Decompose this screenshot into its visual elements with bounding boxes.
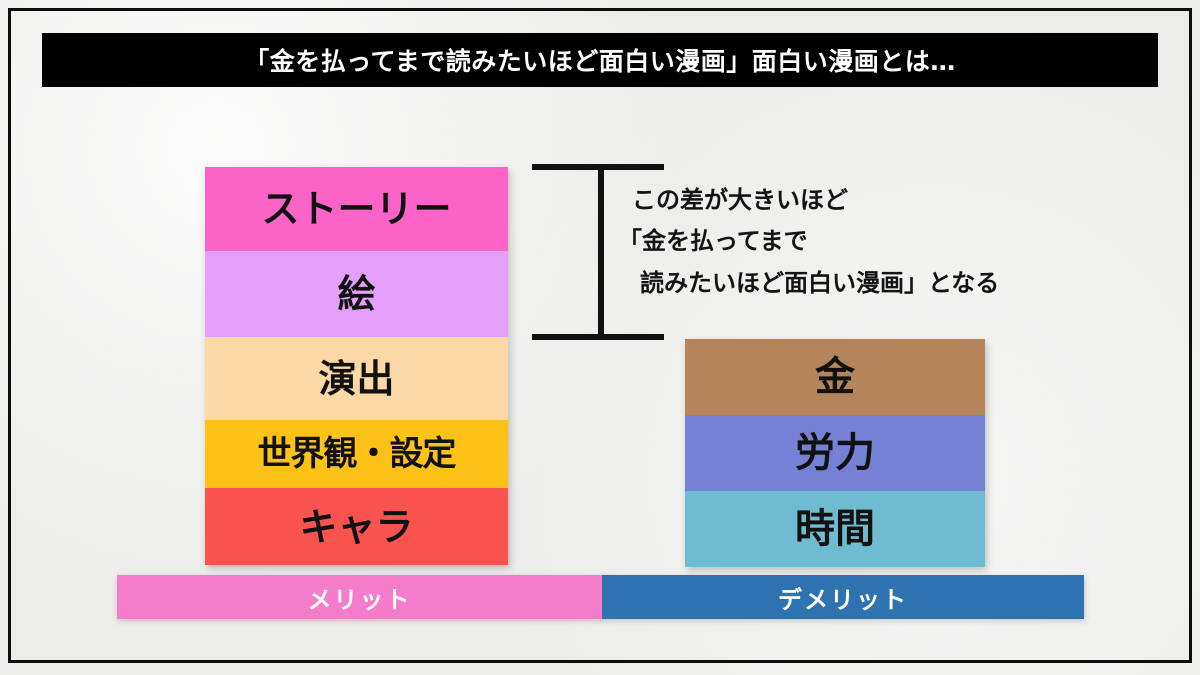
page-title: 「金を払ってまで読みたいほど面白い漫画」面白い漫画とは… [244,42,956,78]
demerit-block: 時間 [685,491,985,567]
bracket-bottom-bar [532,334,664,340]
demerit-stack: 金労力時間 [685,339,985,567]
annotation-text: この差が大きいほど 「金を払ってまで 読みたいほど面白い漫画」となる [632,180,1102,304]
merit-block: 演出 [205,337,508,420]
demerit-block: 金 [685,339,985,415]
annotation-line-1: この差が大きいほど [632,180,1102,221]
annotation-line-2: 「金を払ってまで [618,221,1102,262]
title-bar: 「金を払ってまで読みたいほど面白い漫画」面白い漫画とは… [42,33,1158,87]
slide-canvas: 「金を払ってまで読みたいほど面白い漫画」面白い漫画とは… ストーリー絵演出世界観… [0,0,1200,675]
bracket-stem [598,164,604,340]
merit-block: 世界観・設定 [205,420,508,488]
footer-bars: メリット デメリット [117,575,1084,619]
merit-block: 絵 [205,251,508,337]
merit-block: ストーリー [205,167,508,251]
merit-footer-bar: メリット [117,575,602,619]
annotation-line-3: 読みたいほど面白い漫画」となる [640,263,1102,304]
demerit-block: 労力 [685,415,985,491]
merit-block: キャラ [205,488,508,565]
merit-stack: ストーリー絵演出世界観・設定キャラ [205,167,508,565]
demerit-footer-bar: デメリット [602,575,1084,619]
